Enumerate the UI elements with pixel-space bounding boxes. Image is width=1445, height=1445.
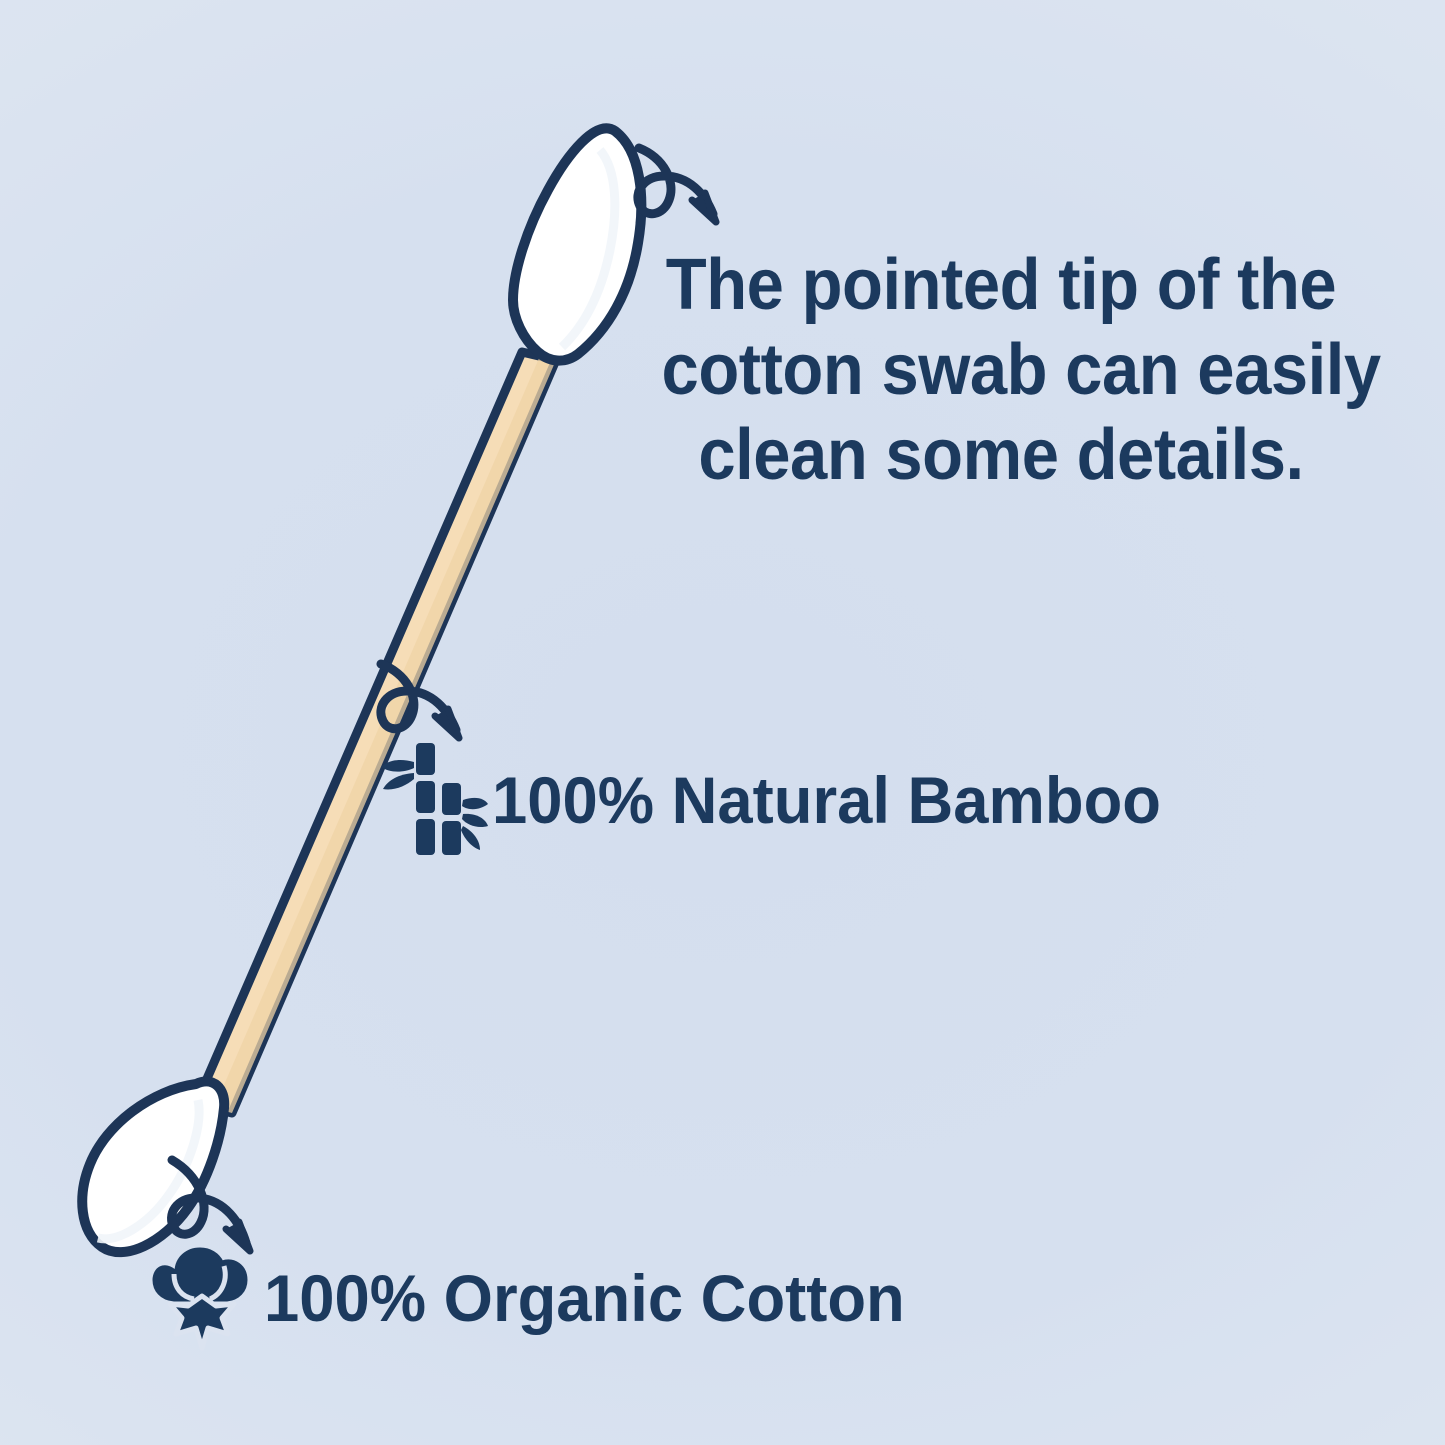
bamboo-icon [380,740,488,860]
feature-cotton-label: 100% Organic Cotton [264,1265,905,1331]
pointed-cotton-tip [513,128,641,360]
headline-line-3: clean some details. [662,413,1341,498]
bamboo-stick [196,352,556,1113]
cotton-swab-illustration [0,0,1445,1445]
cotton-boll-icon [146,1244,258,1352]
headline-line-1: The pointed tip of the [662,243,1341,328]
feature-cotton: 100% Organic Cotton [146,1240,931,1356]
product-infographic: The pointed tip of the cotton swab can e… [0,0,1445,1445]
headline: The pointed tip of the cotton swab can e… [662,243,1341,498]
arrow-to-pointed-tip [638,148,716,222]
feature-bamboo: 100% Natural Bamboo [380,740,1189,860]
headline-line-2: cotton swab can easily [662,328,1341,413]
feature-bamboo-label: 100% Natural Bamboo [492,767,1161,833]
